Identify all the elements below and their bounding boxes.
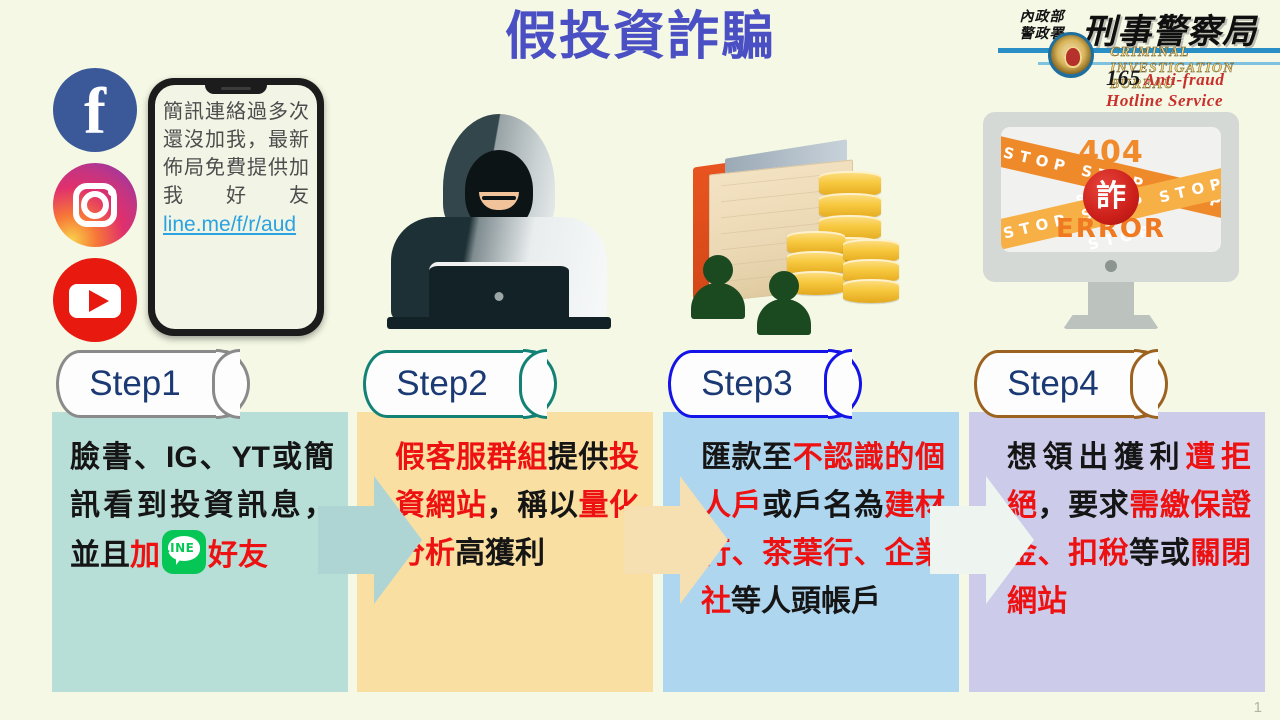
logo-hotline: 165Anti-fraud Hotline Service	[1106, 65, 1278, 111]
step-badge-2-label: Step2	[363, 350, 521, 418]
step-badge-4-label: Step4	[974, 350, 1132, 418]
police-emblem-icon	[1048, 32, 1094, 78]
step-badge-4[interactable]: Step4	[974, 350, 1166, 418]
instagram-dot	[108, 188, 116, 196]
hacker-desk	[387, 317, 611, 329]
person-silhouette-2	[757, 271, 811, 333]
step-2-text: 假客服群組提供投資網站，稱以量化分析高獲利	[395, 434, 639, 578]
youtube-play-triangle	[89, 290, 109, 312]
step-2-text-segment: ，稱以	[487, 489, 579, 522]
step-3-text: 匯款至不認識的個人戶或戶名為建材行、茶葉行、企業社等人頭帳戶	[701, 434, 945, 626]
sms-message-text: 簡訊連絡過多次還沒加我，最新佈局免費提供加我好友	[163, 98, 309, 210]
arrow-step1-to-step2	[318, 470, 422, 610]
hacker-laptop	[429, 262, 569, 324]
arrow-step2-to-step3	[624, 470, 728, 610]
coin-stack-3	[843, 239, 899, 307]
step-4-text-segment: ，要求	[1038, 489, 1130, 522]
cib-logo: 內政部 警政署 刑事警察局 CRIMINAL INVESTIGATION BUR…	[998, 2, 1278, 94]
step-1-text-segment: 好友	[208, 539, 268, 572]
line-icon: LINE	[162, 530, 206, 574]
money-illustration	[683, 143, 907, 333]
page-number: 1	[1254, 699, 1262, 716]
step-2-text-segment: 高獲利	[455, 537, 545, 570]
step-3-text-segment: 等人頭帳戶	[731, 585, 881, 618]
hacker-illustration	[383, 112, 615, 332]
instagram-icon	[53, 163, 137, 247]
step-badge-3-label: Step3	[668, 350, 826, 418]
monitor-base	[1063, 315, 1159, 329]
person-silhouette-1	[691, 255, 745, 317]
step-panel-1: 臉書、IG、YT或簡訊看到投資訊息，並且加LINE好友	[52, 412, 348, 692]
step-panel-1-body: 臉書、IG、YT或簡訊看到投資訊息，並且加LINE好友	[52, 412, 348, 692]
step-3-text-segment: 或戶名為	[762, 489, 884, 522]
monitor-power-dot	[1105, 260, 1117, 272]
step-badge-2[interactable]: Step2	[363, 350, 555, 418]
slide-canvas: 假投資詐騙 內政部 警政署 刑事警察局 CRIMINAL INVESTIGATI…	[0, 0, 1280, 720]
error-monitor-illustration: 404 STOP STOP STOP STOP STOP STOP STOP S…	[983, 112, 1239, 336]
step-badge-3[interactable]: Step3	[668, 350, 860, 418]
sms-link[interactable]: line.me/f/r/aud	[163, 211, 309, 238]
step-badge-1-label: Step1	[56, 350, 214, 418]
fraud-seal-icon: 詐	[1083, 169, 1139, 225]
step-1-text-segment: 加	[130, 539, 160, 572]
step-4-text: 想領出獲利遭拒絕，要求需繳保證金、扣稅等或關閉網站	[1007, 434, 1251, 626]
phone-mockup: 簡訊連絡過多次還沒加我，最新佈局免費提供加我好友 line.me/f/r/aud	[148, 78, 324, 336]
step-2-text-segment: 提供	[548, 441, 609, 474]
monitor-frame: 404 STOP STOP STOP STOP STOP STOP STOP S…	[983, 112, 1239, 282]
phone-notch	[205, 83, 267, 94]
logo-hotline-number: 165	[1106, 65, 1141, 90]
monitor-neck	[1088, 282, 1134, 318]
logo-agency-line1: 內政部	[1006, 8, 1078, 25]
instagram-lens	[81, 191, 109, 219]
step-4-text-segment: 等或	[1129, 537, 1190, 570]
arrow-step3-to-step4	[930, 470, 1034, 610]
step-badge-1[interactable]: Step1	[56, 350, 248, 418]
facebook-icon: f	[53, 68, 137, 152]
facebook-glyph: f	[53, 74, 137, 150]
monitor-screen: 404 STOP STOP STOP STOP STOP STOP STOP S…	[1001, 127, 1221, 252]
phone-screen: 簡訊連絡過多次還沒加我，最新佈局免費提供加我好友 line.me/f/r/aud	[155, 85, 317, 329]
step-1-text: 臉書、IG、YT或簡訊看到投資訊息，並且加LINE好友	[70, 434, 334, 580]
youtube-icon	[53, 258, 137, 342]
